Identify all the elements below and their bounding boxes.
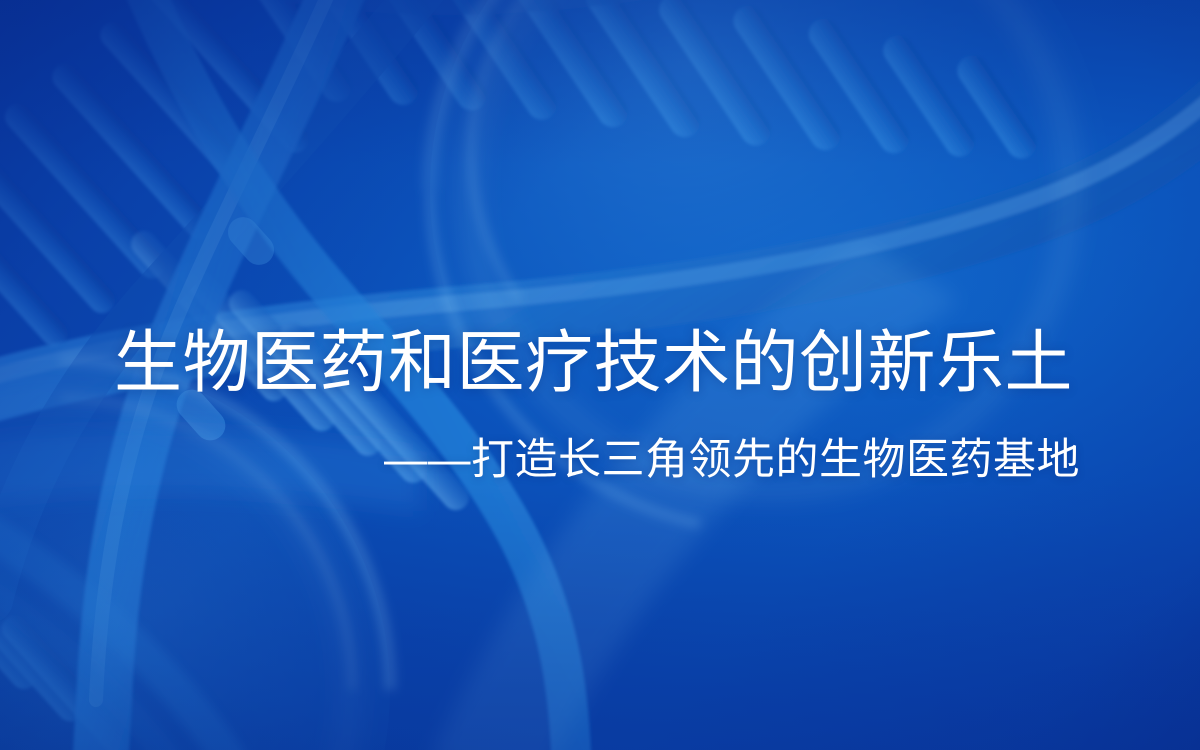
title-slide: 生物医药和医疗技术的创新乐土 ——打造长三角领先的生物医药基地 <box>0 0 1200 750</box>
background-tint-bottom <box>0 0 1200 750</box>
